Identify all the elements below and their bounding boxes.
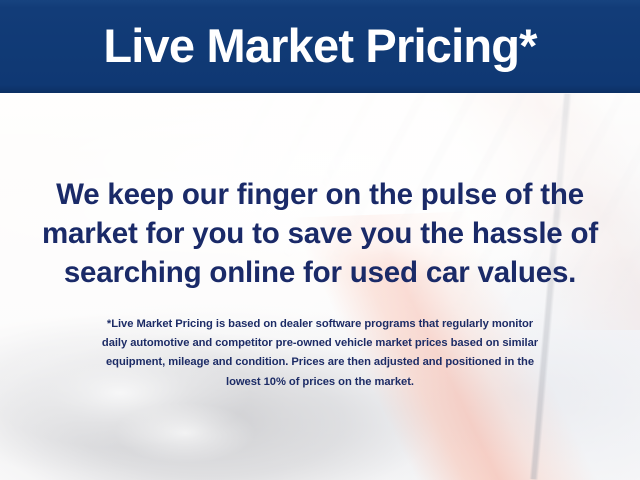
main-content: We keep our finger on the pulse of the m…	[0, 93, 640, 480]
disclaimer-line-2: daily automotive and competitor pre-owne…	[20, 334, 620, 353]
live-market-pricing-banner: Live Market Pricing* We keep our finger …	[0, 0, 640, 480]
disclaimer-line-4: lowest 10% of prices on the market.	[20, 373, 620, 392]
headline-line-1: We keep our finger on the pulse of the	[18, 175, 622, 214]
headline: We keep our finger on the pulse of the m…	[18, 175, 622, 292]
headline-line-3: searching online for used car values.	[18, 253, 622, 292]
disclaimer-line-1: *Live Market Pricing is based on dealer …	[20, 315, 620, 334]
headline-line-2: market for you to save you the hassle of	[18, 214, 622, 253]
page-title: Live Market Pricing*	[0, 0, 640, 93]
disclaimer-line-3: equipment, mileage and condition. Prices…	[20, 353, 620, 372]
disclaimer-text: *Live Market Pricing is based on dealer …	[20, 315, 620, 392]
